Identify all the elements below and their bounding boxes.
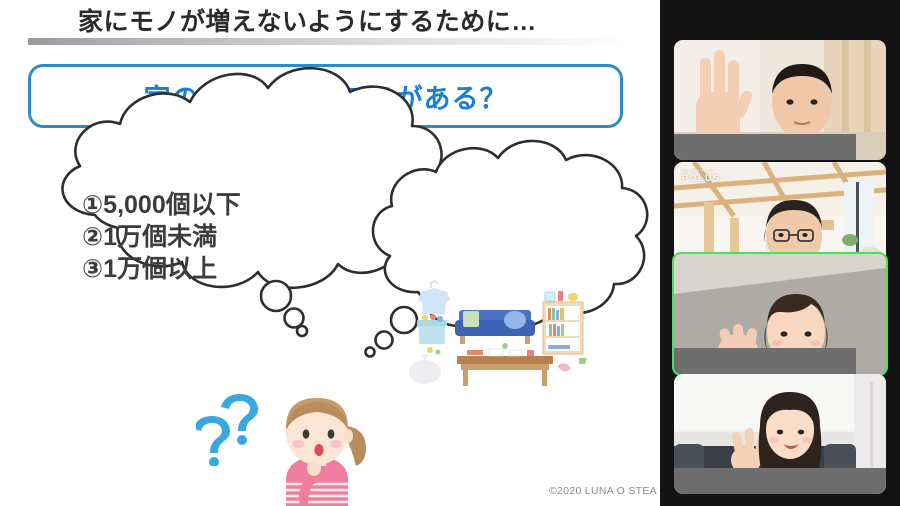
participant-name-redaction-3 <box>674 348 856 374</box>
polus-watermark: PRESENTED BY POLUS <box>682 169 721 183</box>
video-tile-3[interactable] <box>672 252 888 376</box>
beanbag-icon <box>409 354 441 384</box>
video-tile-4[interactable] <box>674 374 886 494</box>
answer-option-3: ③1万個以上 <box>82 254 241 286</box>
question-box: 家の中には何個モノがある？ <box>28 64 623 128</box>
floor-toys-icon <box>557 358 587 372</box>
slide-title: 家にモノが増えないようにするために… <box>78 2 537 38</box>
living-room-illustration <box>405 280 595 395</box>
hanging-shirt-icon <box>418 281 450 314</box>
coffee-table-icon <box>457 343 553 386</box>
participant-name-redaction-4 <box>674 468 886 494</box>
answer-option-1: ①5,000個以下 <box>82 190 241 222</box>
toy-box-icon <box>417 314 447 355</box>
thinking-woman-illustration <box>262 380 372 506</box>
bookshelf-icon <box>543 291 583 354</box>
title-underline-rule <box>28 38 628 45</box>
presentation-slide: 家にモノが増えないようにするために… 家の中には何個モノがある？ ①5,000個… <box>0 0 660 506</box>
video-tile-1[interactable] <box>674 40 886 160</box>
copyright-text: ©2020 LUNA O STEA <box>549 485 657 497</box>
sofa-icon <box>455 310 535 344</box>
question-box-text: 家の中には何個モノがある？ <box>144 77 508 116</box>
video-conference-panel: PRESENTED BY POLUS <box>660 0 900 506</box>
polus-watermark-text: POLUS <box>682 173 721 183</box>
answer-option-2: ②1万個未満 <box>82 222 241 254</box>
answer-options-list: ①5,000個以下 ②1万個未満 ③1万個以上 <box>82 190 241 285</box>
participant-name-redaction-1 <box>674 134 856 160</box>
